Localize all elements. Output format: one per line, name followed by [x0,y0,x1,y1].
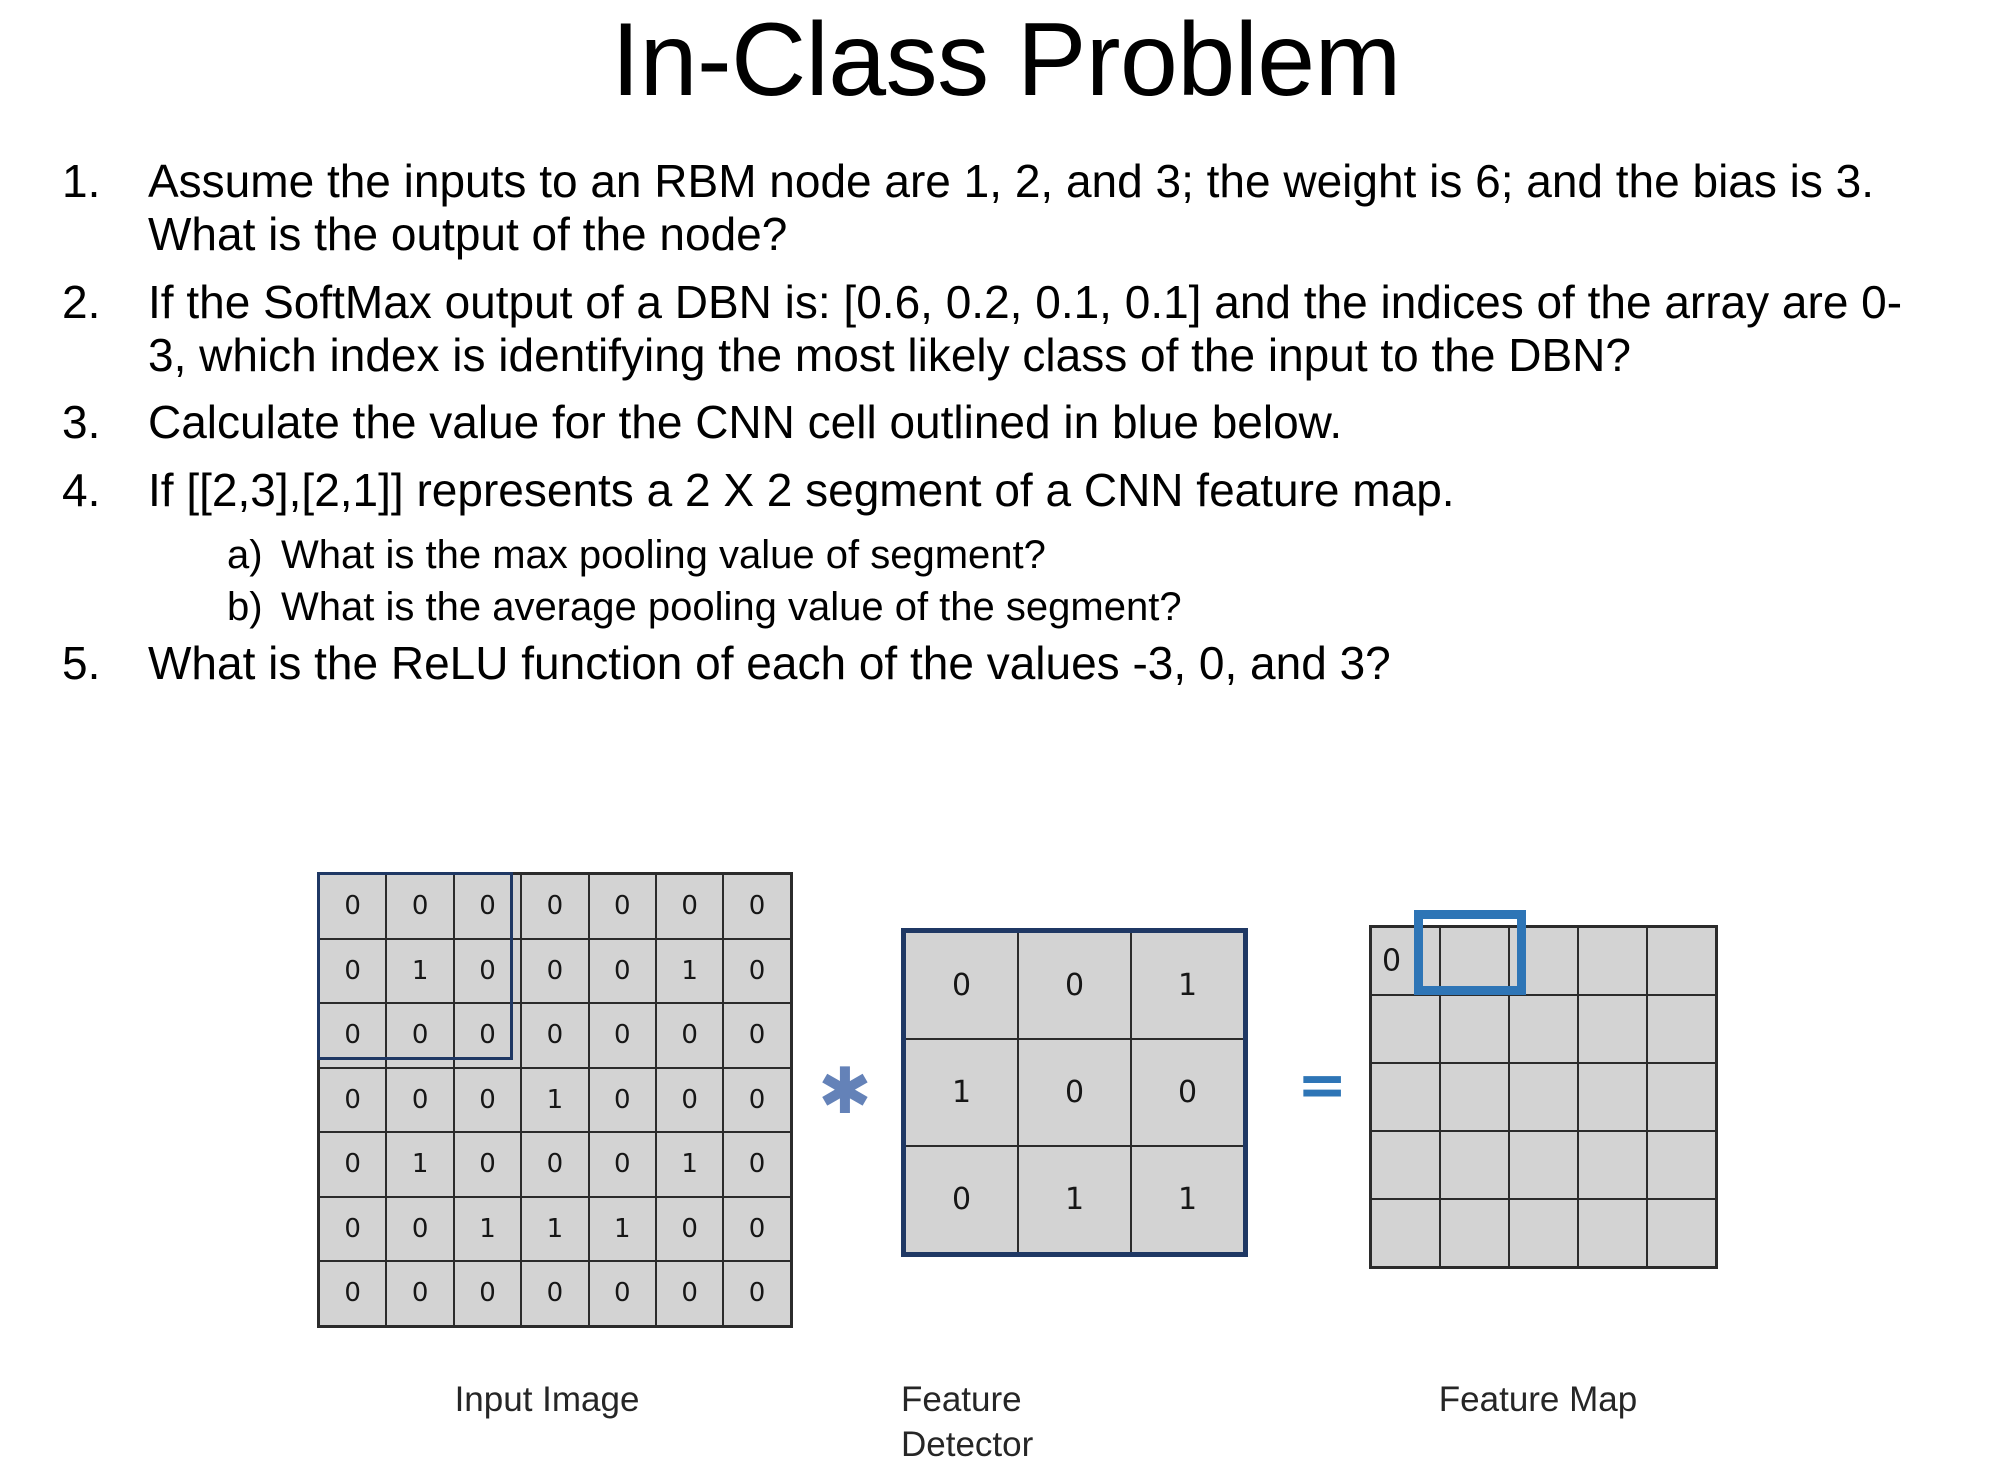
list-item: 2. If the SoftMax output of a DBN is: [0… [52,276,1962,383]
equals-operator-icon: = [1297,1055,1347,1115]
input-image-caption: Input Image [318,1378,776,1423]
feature-map-cell-r0-c4 [1647,927,1716,995]
input-image-cell-r3-c2: 0 [454,1068,521,1133]
sub-list: a) What is the max pooling value of segm… [52,531,1962,631]
feature-map-cell-r1-c1 [1440,995,1509,1063]
feature-map-cell-r1-c2 [1509,995,1578,1063]
list-item: 1. Assume the inputs to an RBM node are … [52,155,1962,262]
sub-list-item-text: What is the average pooling value of the… [281,583,1962,631]
feature-map-cell-r4-c3 [1578,1199,1647,1267]
table-row [1371,995,1716,1063]
input-image-cell-r1-c5: 1 [656,939,723,1004]
table-row [1371,1131,1716,1199]
input-image-cell-r3-c5: 0 [656,1068,723,1133]
input-image-cell-r5-c0: 0 [319,1197,386,1262]
input-image-cell-r5-c5: 0 [656,1197,723,1262]
list-item-text: Calculate the value for the CNN cell out… [148,396,1938,449]
feature-map-highlight-box [1414,910,1526,995]
input-image-cell-r4-c2: 0 [454,1132,521,1197]
input-image-cell-r0-c5: 0 [656,874,723,939]
feature-detector-caption-line1: Feature [901,1378,1244,1423]
table-row [1371,1063,1716,1131]
list-item-text: If the SoftMax output of a DBN is: [0.6,… [148,276,1938,383]
input-image-cell-r0-c3: 0 [521,874,588,939]
feature-detector-cell-r1-c2: 0 [1131,1039,1246,1146]
input-image-cell-r2-c3: 0 [521,1003,588,1068]
input-image-cell-r6-c1: 0 [386,1261,453,1326]
sub-list-item: b) What is the average pooling value of … [52,583,1962,631]
convolution-operator-icon: ✱ [818,1060,872,1124]
input-image-cell-r0-c6: 0 [723,874,790,939]
question-list: 1. Assume the inputs to an RBM node are … [52,155,1962,705]
feature-map-cell-r2-c2 [1509,1063,1578,1131]
feature-map-cell-r3-c3 [1578,1131,1647,1199]
feature-detector-cell-r1-c0: 1 [904,1039,1019,1146]
input-image-cell-r2-c4: 0 [589,1003,656,1068]
feature-map-cell-r0-c3 [1578,927,1647,995]
input-image-cell-r3-c3: 1 [521,1068,588,1133]
table-row: 0000000 [319,1261,791,1326]
input-image-cell-r4-c4: 0 [589,1132,656,1197]
list-item-number: 2. [52,276,148,329]
input-image-cell-r4-c6: 0 [723,1132,790,1197]
list-item: 5. What is the ReLU function of each of … [52,637,1962,690]
table-row: 011 [904,1146,1246,1255]
input-image-cell-r6-c6: 0 [723,1261,790,1326]
list-item: 4. If [[2,3],[2,1]] represents a 2 X 2 s… [52,464,1962,517]
feature-detector-cell-r0-c2: 1 [1131,931,1246,1040]
input-image-cell-r5-c3: 1 [521,1197,588,1262]
feature-map-cell-r4-c2 [1509,1199,1578,1267]
feature-map-cell-r3-c0 [1371,1131,1440,1199]
feature-detector-caption-line2: Detector [901,1423,1244,1468]
feature-detector-grid: 001100011 [901,928,1248,1257]
feature-map-cell-r2-c3 [1578,1063,1647,1131]
feature-map-cell-r4-c0 [1371,1199,1440,1267]
feature-detector-caption: Feature Detector [901,1378,1244,1468]
input-image-cell-r4-c3: 0 [521,1132,588,1197]
feature-map-cell-r3-c1 [1440,1131,1509,1199]
input-image-cell-r5-c1: 0 [386,1197,453,1262]
table-row: 0100010 [319,1132,791,1197]
input-image-cell-r3-c6: 0 [723,1068,790,1133]
input-image-cell-r6-c0: 0 [319,1261,386,1326]
list-item-number: 1. [52,155,148,208]
input-image-cell-r2-c5: 0 [656,1003,723,1068]
feature-detector-cell-r1-c1: 0 [1018,1039,1131,1146]
input-image-cell-r1-c3: 0 [521,939,588,1004]
table-row: 001 [904,931,1246,1040]
input-image-cell-r6-c3: 0 [521,1261,588,1326]
feature-detector-cell-r2-c1: 1 [1018,1146,1131,1255]
input-image-cell-r5-c2: 1 [454,1197,521,1262]
table-row: 0001000 [319,1068,791,1133]
input-image-cell-r4-c1: 1 [386,1132,453,1197]
sub-list-item-marker: b) [227,583,281,631]
feature-map-cell-r2-c0 [1371,1063,1440,1131]
table-row: 100 [904,1039,1246,1146]
sub-list-item: a) What is the max pooling value of segm… [52,531,1962,579]
input-image-cell-r0-c4: 0 [589,874,656,939]
input-image-cell-r3-c4: 0 [589,1068,656,1133]
input-image-cell-r4-c0: 0 [319,1132,386,1197]
input-image-convolution-window [317,872,513,1060]
list-item-number: 4. [52,464,148,517]
feature-map-cell-r2-c1 [1440,1063,1509,1131]
feature-map-cell-r1-c0 [1371,995,1440,1063]
feature-map-cell-r2-c4 [1647,1063,1716,1131]
list-item: 3. Calculate the value for the CNN cell … [52,396,1962,449]
table-row: 0011100 [319,1197,791,1262]
input-image-cell-r6-c5: 0 [656,1261,723,1326]
feature-map-cell-r1-c3 [1578,995,1647,1063]
feature-detector-cell-r2-c0: 0 [904,1146,1019,1255]
list-item-number: 5. [52,637,148,690]
feature-map-cell-r3-c4 [1647,1131,1716,1199]
feature-map-cell-r1-c4 [1647,995,1716,1063]
input-image-cell-r6-c4: 0 [589,1261,656,1326]
feature-map-caption: Feature Map [1370,1378,1706,1423]
feature-map-cell-r3-c2 [1509,1131,1578,1199]
feature-detector-cell-r0-c1: 0 [1018,931,1131,1040]
input-image-cell-r5-c4: 1 [589,1197,656,1262]
input-image-cell-r5-c6: 0 [723,1197,790,1262]
page-title: In-Class Problem [0,6,2012,115]
input-image-cell-r4-c5: 1 [656,1132,723,1197]
sub-list-item-marker: a) [227,531,281,579]
feature-detector-cell-r0-c0: 0 [904,931,1019,1040]
list-item-text: Assume the inputs to an RBM node are 1, … [148,155,1938,262]
list-item-text: What is the ReLU function of each of the… [148,637,1938,690]
grid-cell-value: 0 [1382,944,1401,979]
input-image-cell-r6-c2: 0 [454,1261,521,1326]
input-image-cell-r1-c6: 0 [723,939,790,1004]
feature-map-cell-r4-c4 [1647,1199,1716,1267]
sub-list-item-text: What is the max pooling value of segment… [281,531,1962,579]
input-image-cell-r2-c6: 0 [723,1003,790,1068]
list-item-text: If [[2,3],[2,1]] represents a 2 X 2 segm… [148,464,1938,517]
feature-map-cell-r4-c1 [1440,1199,1509,1267]
table-row [1371,1199,1716,1267]
input-image-cell-r3-c1: 0 [386,1068,453,1133]
input-image-cell-r1-c4: 0 [589,939,656,1004]
input-image-cell-r3-c0: 0 [319,1068,386,1133]
feature-detector-cell-r2-c2: 1 [1131,1146,1246,1255]
list-item-number: 3. [52,396,148,449]
